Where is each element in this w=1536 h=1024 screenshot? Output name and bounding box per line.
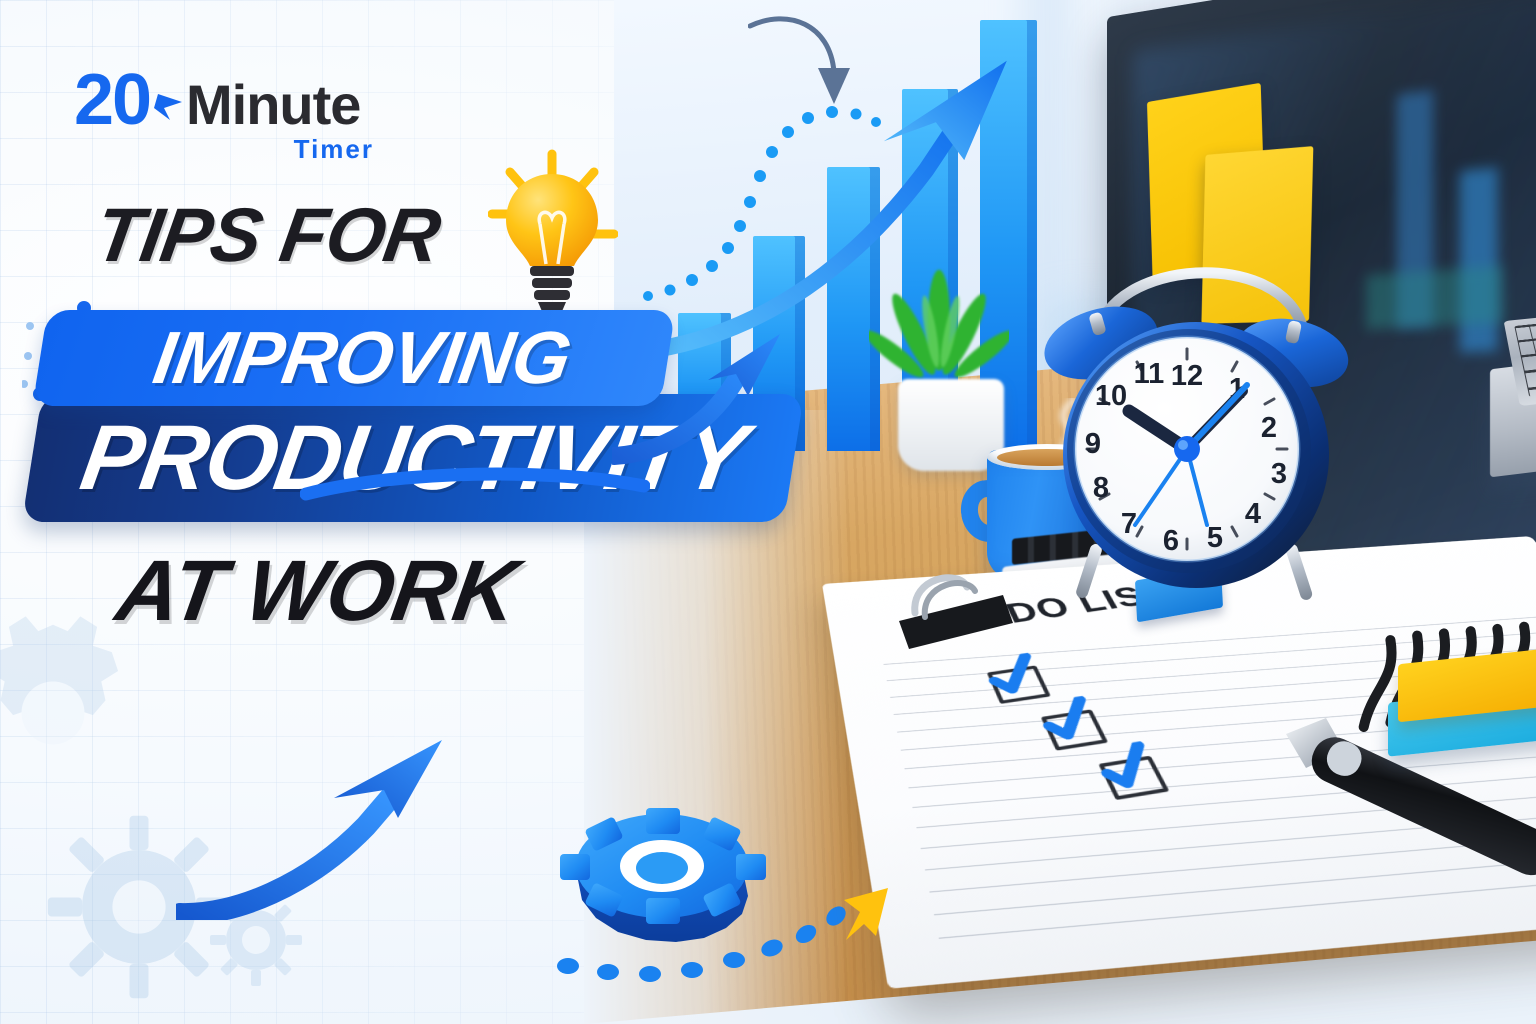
potted-plant-icon xyxy=(869,266,1009,436)
svg-text:6: 6 xyxy=(1163,525,1179,557)
binder-clip-icon xyxy=(881,565,1021,651)
keyboard-keys xyxy=(1514,312,1536,397)
svg-text:8: 8 xyxy=(1093,472,1109,504)
svg-text:3: 3 xyxy=(1271,458,1287,490)
svg-text:2: 2 xyxy=(1261,412,1277,444)
screen-chart-bar xyxy=(1459,167,1497,353)
alarm-clock: 12 1 2 3 4 5 6 7 8 9 10 11 xyxy=(1031,225,1361,625)
yellow-cursor-arrow-icon xyxy=(824,884,894,946)
logo-number: 20 xyxy=(74,62,150,140)
gear-3d-icon xyxy=(552,776,772,956)
svg-text:11: 11 xyxy=(1134,358,1165,390)
headline-line-4: AT WORK xyxy=(111,546,523,636)
blue-curved-arrow-icon xyxy=(176,720,496,920)
banner-canvas: 12 1 2 3 4 5 6 7 8 9 10 11 xyxy=(0,0,1536,1024)
lightbulb-base xyxy=(530,266,574,316)
screen-chart-bar xyxy=(1366,266,1503,330)
logo-arrow-icon xyxy=(154,94,182,120)
logo-subtitle: Timer xyxy=(294,134,374,164)
sticky-note-pads xyxy=(1384,635,1536,795)
ghost-gear-icon xyxy=(0,608,158,818)
headline-line-2: IMPROVING xyxy=(34,321,674,395)
headline-line-2-box: IMPROVING xyxy=(32,310,675,406)
blue-rising-arrow-icon xyxy=(612,330,812,470)
lightbulb-icon xyxy=(488,148,618,320)
headline-line-1: TIPS FOR xyxy=(90,196,445,276)
svg-text:4: 4 xyxy=(1245,498,1261,530)
logo-word: Minute xyxy=(186,73,360,136)
brand-logo[interactable]: 20 Minute Timer xyxy=(74,62,454,174)
dotted-arc-decoration xyxy=(636,52,886,312)
svg-text:5: 5 xyxy=(1207,522,1223,554)
svg-text:12: 12 xyxy=(1171,360,1203,392)
svg-text:9: 9 xyxy=(1085,428,1101,460)
headline-underline-swoosh xyxy=(300,464,650,504)
svg-text:10: 10 xyxy=(1095,380,1127,412)
